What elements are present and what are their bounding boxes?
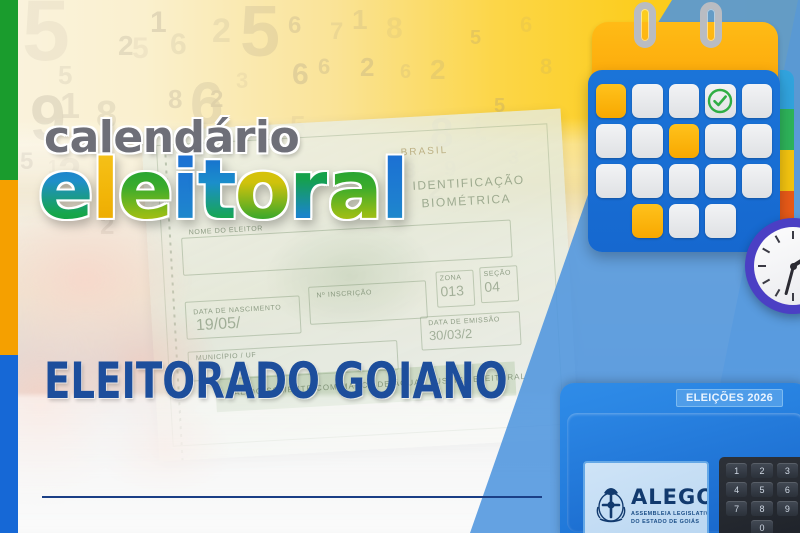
alego-logo-text: ALEGO: [631, 487, 709, 508]
calendar-ring-left: [634, 2, 656, 48]
background-digit: 8: [386, 14, 403, 44]
card-value-secao: 04: [484, 278, 500, 295]
keypad-key-0[interactable]: 0: [751, 520, 772, 533]
background-digit: 1: [352, 6, 368, 34]
clock-tick: [762, 279, 770, 285]
keypad-key-5[interactable]: 5: [751, 482, 772, 497]
keypad-key-9[interactable]: 9: [777, 501, 798, 516]
background-digit: 2: [430, 56, 446, 84]
keypad-key-7[interactable]: 7: [726, 501, 747, 516]
calendar-cell: [632, 84, 662, 118]
stripe-segment-orange: [0, 180, 18, 355]
calendar-cell: [742, 84, 772, 118]
background-digit: 6: [292, 60, 309, 90]
background-digit: 5: [240, 0, 280, 68]
subtitle-eleitorado-goiano: ELEITORADO GOIANO: [44, 352, 508, 410]
calendar-cell: [705, 164, 735, 198]
calendar-cell: [705, 124, 735, 158]
clock-tick: [792, 293, 794, 301]
check-circle-icon: [706, 87, 734, 115]
alego-logo: ALEGO ASSEMBLEIA LEGISLATIVA DO ESTADO D…: [631, 487, 709, 526]
calendar-cell-highlighted: [632, 204, 662, 238]
background-digit: 8: [168, 86, 182, 112]
keypad-key-1[interactable]: 1: [726, 463, 747, 478]
card-field-inscricao: [308, 280, 428, 325]
calendar-cell: [596, 164, 626, 198]
calendar-cell: [596, 124, 626, 158]
clock-face: [754, 227, 800, 305]
keypad-key-2[interactable]: 2: [751, 463, 772, 478]
calendar-cell-highlighted: [596, 84, 626, 118]
eleitoral-letter: e: [38, 150, 92, 232]
eleitoral-letter: l: [92, 150, 118, 232]
alego-logo-sub2: DO ESTADO DE GOIÁS: [631, 518, 709, 526]
keypad-key-3[interactable]: 3: [777, 463, 798, 478]
eleitoral-letter: o: [235, 150, 289, 232]
stripe-segment-blue: [0, 355, 18, 533]
clock-center-pin: [790, 263, 797, 270]
keypad-number-grid: 1234567890: [726, 463, 798, 533]
calendar-body: [588, 70, 780, 252]
calendar-check-icon: [705, 84, 735, 118]
calendar-cell: [742, 164, 772, 198]
voting-machine: ELEIÇÕES 2026 ALEGO ASSEMBLEIA LEGISLATI…: [560, 383, 800, 533]
eleitoral-letter: e: [118, 150, 172, 232]
horizontal-rule: [42, 496, 542, 498]
calendar-cell-highlighted: [669, 124, 699, 158]
card-value-emissao: 30/03/2: [429, 326, 473, 343]
eleitoral-letter: t: [197, 150, 234, 232]
eleitoral-letter: i: [171, 150, 197, 232]
calendar-cell: [669, 164, 699, 198]
voting-machine-panel: ALEGO ASSEMBLEIA LEGISLATIVA DO ESTADO D…: [567, 413, 800, 532]
white-paper-surface: [0, 395, 560, 533]
eleitoral-letter: r: [289, 150, 327, 232]
eleitoral-letter: l: [381, 150, 407, 232]
background-digit: 6: [520, 14, 532, 36]
calendar-cell: [669, 84, 699, 118]
calendar-ring-right: [700, 2, 722, 48]
calendar-cell: [632, 124, 662, 158]
calendar-cell: [632, 164, 662, 198]
background-digit: 5: [132, 34, 149, 64]
clock-tick: [775, 289, 781, 297]
eleitoral-letter: a: [327, 150, 380, 232]
calendar-cell: [705, 204, 735, 238]
clock-tick: [762, 248, 770, 254]
banner-image: 5519512821566823256657162862581932568326…: [0, 0, 800, 533]
background-digit: 2: [210, 88, 223, 112]
left-color-stripe: [0, 0, 18, 533]
voting-machine-keypad: 1234567890 BRANCOCORRIGECONFIRMA: [719, 457, 800, 533]
keypad-key-8[interactable]: 8: [751, 501, 772, 516]
election-year-label: ELEIÇÕES 2026: [676, 389, 783, 407]
background-digit: 6: [400, 62, 411, 82]
clock-tick: [758, 265, 766, 267]
card-label-zona: ZONA: [440, 274, 462, 282]
background-digit: 1: [150, 8, 167, 38]
calendar-icon: [592, 12, 784, 262]
background-digit: 6: [288, 14, 301, 38]
clock-minute-hand: [784, 266, 795, 296]
background-digit: 5: [470, 28, 481, 48]
calendar-cell: [669, 204, 699, 238]
background-digit: 6: [170, 30, 187, 60]
card-value-zona: 013: [440, 282, 464, 299]
calendar-cell-empty: [596, 204, 626, 238]
alego-logo-sub1: ASSEMBLEIA LEGISLATIVA: [631, 510, 709, 518]
background-digit: 7: [330, 20, 343, 44]
clock-tick: [775, 235, 781, 243]
background-digit: 3: [236, 70, 248, 92]
background-digit: 6: [318, 56, 330, 78]
calendar-grid: [596, 84, 772, 238]
background-digit: 2: [212, 14, 231, 48]
stripe-segment-green: [0, 0, 18, 180]
keypad-key-6[interactable]: 6: [777, 482, 798, 497]
calendar-cell: [742, 124, 772, 158]
clock-tick: [792, 231, 794, 239]
background-digit: 8: [540, 56, 552, 78]
page-title-eleitoral: eleitoral: [38, 150, 407, 232]
keypad-key-4[interactable]: 4: [726, 482, 747, 497]
alego-crest-icon: [594, 483, 628, 525]
voting-machine-screen: ALEGO ASSEMBLEIA LEGISLATIVA DO ESTADO D…: [583, 461, 709, 533]
background-digit: 2: [360, 54, 374, 80]
